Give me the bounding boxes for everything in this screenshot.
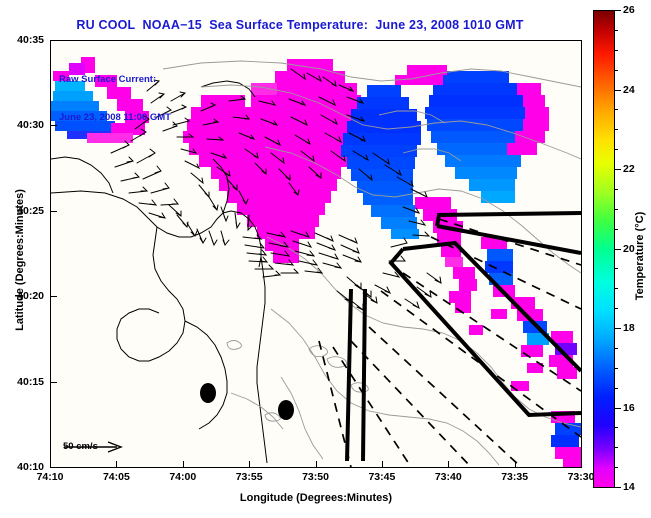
y-axis-tick bbox=[51, 211, 57, 212]
y-axis-tick-label: 40:35 bbox=[2, 34, 44, 46]
surface-current-annotation: Raw Surface Current: June 23, 2008 11:00… bbox=[59, 49, 171, 149]
x-axis-tick-label: 73:35 bbox=[501, 471, 528, 483]
colorbar-tick-label: 14 bbox=[623, 481, 635, 493]
y-axis-tick-label: 40:15 bbox=[2, 376, 44, 388]
colorbar-minor-tick bbox=[614, 268, 618, 269]
colorbar-minor-tick bbox=[614, 189, 618, 190]
y-axis-tick-label: 40:30 bbox=[2, 119, 44, 131]
colorbar-tick bbox=[614, 10, 621, 11]
colorbar-minor-tick bbox=[614, 30, 618, 31]
colorbar-tick-label: 26 bbox=[623, 4, 635, 16]
colorbar-minor-tick bbox=[614, 229, 618, 230]
x-axis-tick bbox=[316, 461, 317, 467]
y-axis-tick bbox=[51, 467, 57, 468]
y-axis-tick bbox=[51, 40, 57, 41]
x-axis-tick bbox=[581, 461, 582, 467]
colorbar-tick bbox=[614, 487, 621, 488]
shipping-lane-boxes bbox=[347, 213, 581, 461]
colorbar-minor-tick bbox=[614, 149, 618, 150]
y-axis-tick bbox=[51, 296, 57, 297]
colorbar-tick-label: 20 bbox=[623, 243, 635, 255]
x-axis-tick-label: 74:05 bbox=[103, 471, 130, 483]
colorbar-title: Temperature (°C) bbox=[634, 176, 646, 336]
x-axis-tick bbox=[515, 461, 516, 467]
y-axis-tick-label: 40:10 bbox=[2, 461, 44, 473]
colorbar-minor-tick bbox=[614, 427, 618, 428]
page-title: RU COOL NOAA−15 Sea Surface Temperature:… bbox=[0, 18, 600, 32]
colorbar-minor-tick bbox=[614, 209, 618, 210]
colorbar-minor-tick bbox=[614, 308, 618, 309]
colorbar-minor-tick bbox=[614, 388, 618, 389]
x-axis-tick bbox=[249, 461, 250, 467]
colorbar-tick-label: 18 bbox=[623, 322, 635, 334]
y-axis-title: Latitude (Degrees:Minutes) bbox=[14, 160, 26, 360]
x-axis-tick-label: 73:40 bbox=[435, 471, 462, 483]
x-axis-tick bbox=[183, 461, 184, 467]
colorbar-minor-tick bbox=[614, 109, 618, 110]
colorbar-minor-tick bbox=[614, 447, 618, 448]
x-axis-tick bbox=[116, 461, 117, 467]
x-axis-tick bbox=[448, 461, 449, 467]
annotation-line-1: Raw Surface Current: bbox=[59, 74, 171, 87]
colorbar-tick bbox=[614, 249, 621, 250]
colorbar-tick bbox=[614, 328, 621, 329]
x-axis-tick bbox=[382, 461, 383, 467]
x-axis-tick-label: 73:45 bbox=[368, 471, 395, 483]
colorbar-minor-tick bbox=[614, 70, 618, 71]
annotation-line-2: June 23, 2008 11:00 GMT bbox=[59, 112, 171, 125]
velocity-scale-bar: 50 cm/s bbox=[63, 441, 98, 453]
colorbar-tick bbox=[614, 90, 621, 91]
x-axis-tick-label: 74:00 bbox=[169, 471, 196, 483]
colorbar-minor-tick bbox=[614, 129, 618, 130]
x-axis-tick-label: 73:50 bbox=[302, 471, 329, 483]
colorbar-minor-tick bbox=[614, 348, 618, 349]
x-axis-tick-label: 73:55 bbox=[236, 471, 263, 483]
colorbar-minor-tick bbox=[614, 50, 618, 51]
colorbar-minor-tick bbox=[614, 288, 618, 289]
x-axis-tick-label: 73:30 bbox=[568, 471, 595, 483]
sst-map-figure: RU COOL NOAA−15 Sea Surface Temperature:… bbox=[0, 0, 651, 518]
colorbar-tick bbox=[614, 408, 621, 409]
colorbar-minor-tick bbox=[614, 467, 618, 468]
colorbar-tick-label: 22 bbox=[623, 163, 635, 175]
colorbar bbox=[593, 10, 615, 488]
scale-bar-arrow-icon bbox=[63, 441, 125, 453]
y-axis-tick bbox=[51, 125, 57, 126]
colorbar-minor-tick bbox=[614, 368, 618, 369]
y-axis-tick bbox=[51, 382, 57, 383]
station-markers bbox=[200, 383, 294, 420]
colorbar-tick-label: 16 bbox=[623, 402, 635, 414]
x-axis-title: Longitude (Degrees:Minutes) bbox=[50, 492, 582, 504]
colorbar-tick bbox=[614, 169, 621, 170]
map-plot-area[interactable]: Raw Surface Current: June 23, 2008 11:00… bbox=[50, 40, 582, 468]
colorbar-tick-label: 24 bbox=[623, 84, 635, 96]
